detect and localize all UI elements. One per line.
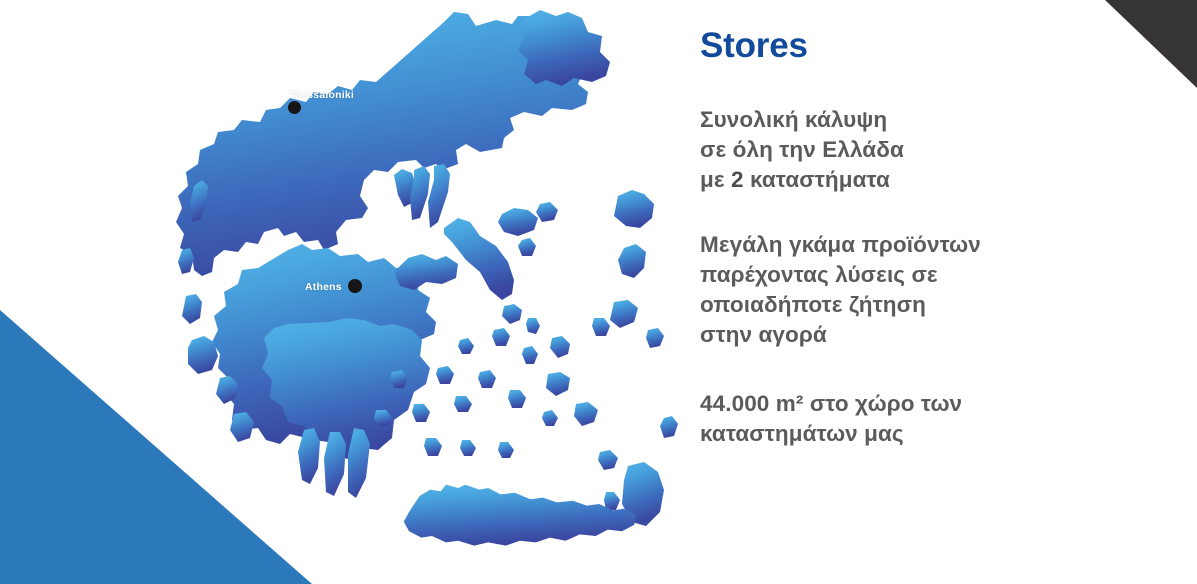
paragraph-product-range: Μεγάλη γκάμα προϊόντων παρέχοντας λύσεις…: [700, 230, 981, 350]
paragraph-coverage: Συνολική κάλυψη σε όλη την Ελλάδα με 2 κ…: [700, 105, 904, 195]
paragraph-product-range-line-2: παρέχοντας λύσεις σε: [700, 260, 981, 290]
paragraph-product-range-line-1: Μεγάλη γκάμα προϊόντων: [700, 230, 981, 260]
store-count-suffix: καταστήματα: [744, 167, 890, 192]
paragraph-product-range-line-3: οποιαδήποτε ζήτηση: [700, 290, 981, 320]
map-label-thessaloniki: Thessaloniki: [288, 89, 354, 101]
store-count-prefix: με: [700, 167, 731, 192]
paragraph-area-line-2: καταστημάτων μας: [700, 419, 962, 449]
page-title: Stores: [700, 26, 808, 66]
paragraph-area-line-1: 44.000 m² στο χώρο των: [700, 389, 962, 419]
map-label-athens: Athens: [305, 281, 342, 293]
map-marker-athens-dot[interactable]: [348, 279, 362, 293]
paragraph-area: 44.000 m² στο χώρο των καταστημάτων μας: [700, 389, 962, 449]
greece-landmasses: [176, 10, 678, 546]
map-marker-thessaloniki-dot[interactable]: [288, 101, 301, 114]
paragraph-product-range-line-4: στην αγορά: [700, 320, 981, 350]
paragraph-coverage-line-3: με 2 καταστήματα: [700, 165, 904, 195]
text-panel: Stores Συνολική κάλυψη σε όλη την Ελλάδα…: [700, 0, 1120, 584]
paragraph-coverage-line-1: Συνολική κάλυψη: [700, 105, 904, 135]
store-count-number: 2: [731, 167, 744, 192]
paragraph-coverage-line-2: σε όλη την Ελλάδα: [700, 135, 904, 165]
